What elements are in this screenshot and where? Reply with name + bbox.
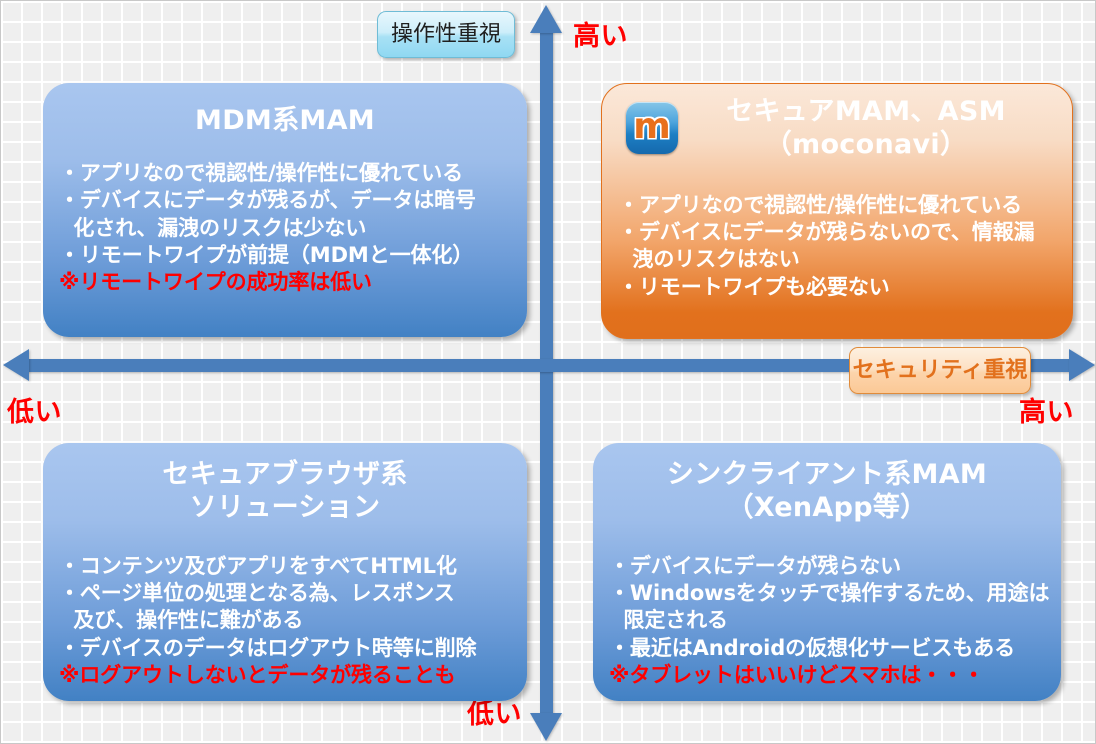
badge-security-focus: セキュリティ重視 <box>849 347 1031 394</box>
quadrant-title-line2: （moconavi） <box>678 129 1054 162</box>
quadrant-box-secure-mam-asm: m セキュアMAM、ASM （moconavi） ・アプリなので視認性/操作性に… <box>601 83 1073 339</box>
list-item: ・デバイスにデータが残らない <box>609 553 1061 580</box>
quadrant-header-secure-mam-asm: m セキュアMAM、ASM （moconavi） <box>602 84 1072 162</box>
quadrant-title-line1: セキュアMAM、ASM <box>678 96 1054 129</box>
list-item: ・Windowsをタッチで操作するため、用途は 限定される <box>609 580 1061 635</box>
list-item: ・デバイスのデータはログアウト時等に削除 <box>59 635 527 662</box>
quadrant-title-line2: （XenApp等） <box>593 492 1061 525</box>
moconavi-app-icon: m <box>626 102 678 154</box>
list-item: ・コンテンツ及びアプリをすべてHTML化 <box>59 553 527 580</box>
moconavi-icon-glyph: m <box>633 109 671 145</box>
quadrant-box-mdm-mam: MDM系MAM ・アプリなので視認性/操作性に優れている ・デバイスにデータが残… <box>43 83 527 337</box>
list-item: ・デバイスにデータが残らないので、情報漏 洩のリスクはない <box>618 219 1072 274</box>
axis-label-horizontal-high: 高い <box>1019 399 1074 426</box>
badge-operability-focus: 操作性重視 <box>377 11 515 58</box>
axis-label-horizontal-low: 低い <box>7 399 62 426</box>
list-item-warning: ※リモートワイプの成功率は低い <box>59 269 527 296</box>
axis-label-vertical-high: 高い <box>573 23 628 50</box>
list-item-warning: ※ログアウトしないとデータが残ることも <box>59 662 527 689</box>
quadrant-bullets-thin-client-mam: ・デバイスにデータが残らない ・Windowsをタッチで操作するため、用途は 限… <box>609 553 1061 689</box>
diagram-canvas: 高い 低い 低い 高い 操作性重視 セキュリティ重視 MDM系MAM ・アプリな… <box>0 0 1096 744</box>
quadrant-title-line1: シンクライアント系MAM <box>593 459 1061 492</box>
quadrant-title-secure-mam-asm: セキュアMAM、ASM （moconavi） <box>678 96 1072 162</box>
list-item: ・アプリなので視認性/操作性に優れている <box>618 192 1072 219</box>
list-item: ・最近はAndroidの仮想化サービスもある <box>609 635 1061 662</box>
list-item-warning: ※タブレットはいいけどスマホは・・・ <box>609 662 1061 689</box>
axis-label-vertical-low: 低い <box>467 701 522 728</box>
list-item: ・アプリなので視認性/操作性に優れている <box>59 160 527 187</box>
vertical-axis-line <box>540 29 553 719</box>
arrow-up-icon <box>530 5 562 33</box>
arrow-right-icon <box>1069 349 1095 381</box>
quadrant-title-line1: セキュアブラウザ系 <box>43 459 527 492</box>
list-item: ・リモートワイプが前提（MDMと一体化） <box>59 242 527 269</box>
quadrant-title-thin-client-mam: シンクライアント系MAM （XenApp等） <box>593 459 1061 525</box>
quadrant-bullets-secure-mam-asm: ・アプリなので視認性/操作性に優れている ・デバイスにデータが残らないので、情報… <box>618 192 1072 301</box>
quadrant-bullets-secure-browser: ・コンテンツ及びアプリをすべてHTML化 ・ページ単位の処理となる為、レスポンス… <box>59 553 527 689</box>
quadrant-title-mdm-mam: MDM系MAM <box>43 105 527 138</box>
arrow-left-icon <box>3 349 29 381</box>
list-item: ・ページ単位の処理となる為、レスポンス 及び、操作性に難がある <box>59 580 527 635</box>
arrow-down-icon <box>530 713 562 741</box>
list-item: ・デバイスにデータが残るが、データは暗号 化され、漏洩のリスクは少ない <box>59 187 527 242</box>
quadrant-title-secure-browser: セキュアブラウザ系 ソリューション <box>43 459 527 525</box>
quadrant-box-thin-client-mam: シンクライアント系MAM （XenApp等） ・デバイスにデータが残らない ・W… <box>593 443 1061 701</box>
list-item: ・リモートワイプも必要ない <box>618 274 1072 301</box>
quadrant-title-line2: ソリューション <box>43 492 527 525</box>
quadrant-box-secure-browser: セキュアブラウザ系 ソリューション ・コンテンツ及びアプリをすべてHTML化 ・… <box>43 443 527 701</box>
quadrant-bullets-mdm-mam: ・アプリなので視認性/操作性に優れている ・デバイスにデータが残るが、データは暗… <box>59 160 527 296</box>
